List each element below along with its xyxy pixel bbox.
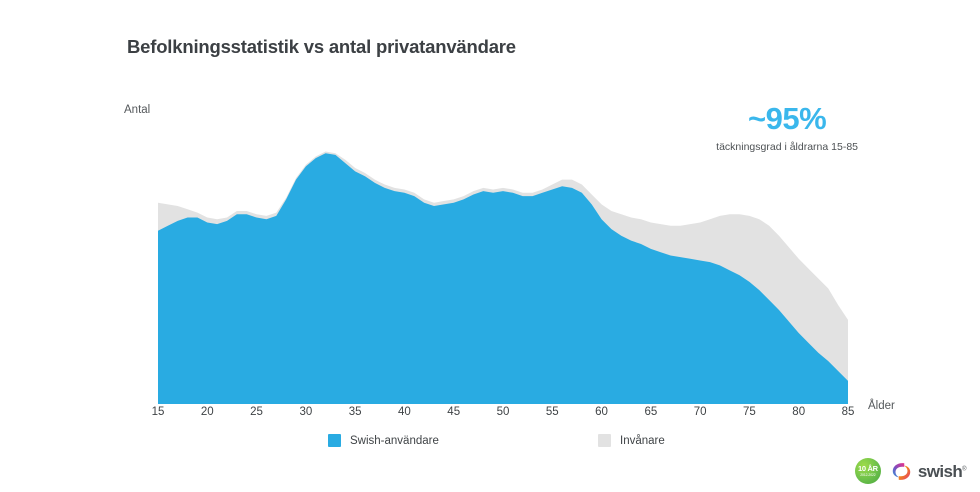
x-axis-tick-label: 15 [152,406,165,418]
badge-bottom-label: 2012-2022 [860,474,875,477]
legend-swatch-icon [328,434,341,447]
chart-legend: Swish-användare Invånare [158,434,848,454]
legend-label: Swish-användare [350,435,439,447]
trademark-symbol: ® [962,466,966,472]
x-axis-tick-label: 70 [694,406,707,418]
x-axis-tick-label: 50 [497,406,510,418]
x-axis-tick-label: 85 [842,406,855,418]
swish-wordmark: swish® [918,463,966,480]
area-chart-svg [158,140,848,404]
coverage-value: ~95% [716,103,858,134]
swish-swirl-icon [890,460,913,483]
swish-wordmark-text: swish [918,462,962,481]
branding-logos: 10 ÅR 2012-2022 [855,458,966,484]
x-axis-tick-label: 45 [447,406,460,418]
x-axis-tick-label: 25 [250,406,263,418]
coverage-caption: täckningsgrad i åldrarna 15-85 [716,141,858,153]
x-axis-tick-label: 30 [299,406,312,418]
x-axis-tick-label: 35 [349,406,362,418]
x-axis-tick-label: 40 [398,406,411,418]
swish-logo: swish® [890,460,966,483]
legend-item-swish-anvandare[interactable]: Swish-användare [328,434,439,447]
x-axis-tick-label: 20 [201,406,214,418]
x-axis-tick-label: 80 [792,406,805,418]
x-axis-tick-label: 55 [546,406,559,418]
coverage-callout: ~95% täckningsgrad i åldrarna 15-85 [716,103,858,153]
ten-year-anniversary-badge-icon: 10 ÅR 2012-2022 [855,458,881,484]
x-axis-tick-label: 75 [743,406,756,418]
chart-page: Befolkningsstatistik vs antal privatanvä… [0,0,980,492]
x-axis-tick-label: 60 [595,406,608,418]
legend-swatch-icon [598,434,611,447]
x-axis-tick-label: 65 [644,406,657,418]
legend-item-invanare[interactable]: Invånare [598,434,665,447]
area-chart-plot [158,140,848,404]
legend-label: Invånare [620,435,665,447]
badge-top-label: 10 ÅR [858,465,878,473]
